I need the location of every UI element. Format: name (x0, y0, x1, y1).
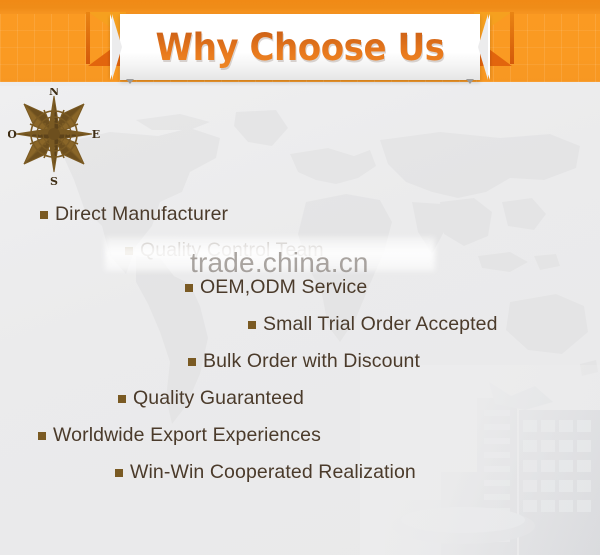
list-item-label: Bulk Order with Discount (203, 350, 420, 373)
ribbon-notch-right (478, 14, 488, 80)
bullet-square-icon (115, 469, 123, 477)
why-choose-us-banner: Why Choose Us Why Choose Us (0, 0, 600, 555)
ribbon-notch-left (112, 14, 122, 80)
list-item-label: Small Trial Order Accepted (263, 313, 498, 336)
bullet-square-icon (185, 284, 193, 292)
ribbon-foot-right (466, 79, 474, 84)
page-title: Why Choose Us (134, 14, 465, 80)
list-item-label: Direct Manufacturer (55, 203, 228, 226)
list-item: Win-Win Cooperated Realization (115, 461, 416, 484)
bullet-square-icon (38, 432, 46, 440)
ribbon-tail-left-edge (86, 12, 90, 64)
ribbon-foot-left (126, 79, 134, 84)
list-item-label: OEM,ODM Service (200, 276, 367, 299)
bullet-square-icon (248, 321, 256, 329)
bullet-square-icon (40, 211, 48, 219)
bullet-square-icon (188, 358, 196, 366)
list-item-label: Quality Guaranteed (133, 387, 304, 410)
list-item: Small Trial Order Accepted (248, 313, 498, 336)
list-item-label: Worldwide Export Experiences (53, 424, 321, 447)
list-item: Bulk Order with Discount (188, 350, 420, 373)
list-item: OEM,ODM Service (185, 276, 367, 299)
ribbon-tail-right-edge (510, 12, 514, 64)
list-item-label: Win-Win Cooperated Realization (130, 461, 416, 484)
watermark-text: trade.china.cn (190, 247, 369, 279)
benefits-list: Direct Manufacturer Quality Control Team… (0, 86, 600, 555)
header-bar: Why Choose Us Why Choose Us (0, 0, 600, 86)
list-item: Worldwide Export Experiences (38, 424, 321, 447)
list-item: Quality Guaranteed (118, 387, 304, 410)
bullet-square-icon (118, 395, 126, 403)
list-item: Direct Manufacturer (40, 203, 228, 226)
